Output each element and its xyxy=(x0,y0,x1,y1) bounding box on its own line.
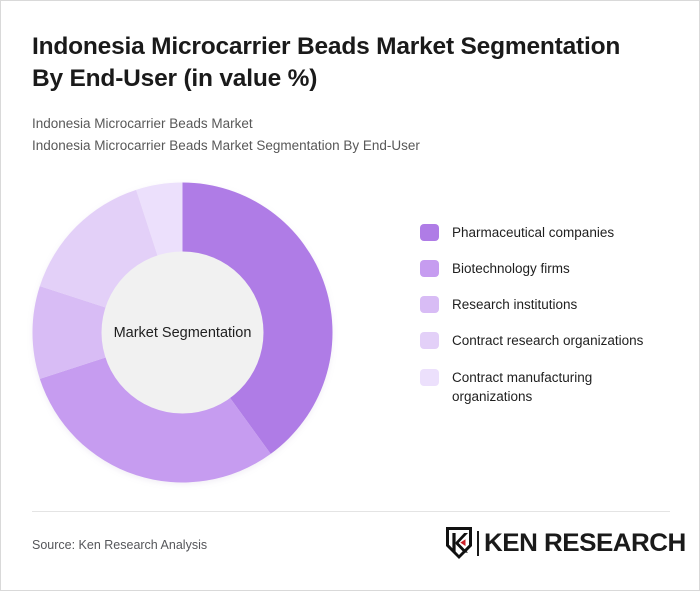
legend-item-label: Contract manufacturing organizations xyxy=(452,368,652,406)
legend-item[interactable]: Biotechnology firms xyxy=(420,259,675,278)
legend-color-swatch xyxy=(420,296,439,313)
legend-color-swatch xyxy=(420,332,439,349)
ken-research-shield-k-icon xyxy=(444,526,474,560)
legend-color-swatch xyxy=(420,224,439,241)
subtitle-block: Indonesia Microcarrier Beads Market Indo… xyxy=(32,113,652,157)
legend-color-swatch xyxy=(420,369,439,386)
legend-item[interactable]: Research institutions xyxy=(420,295,675,314)
legend-color-swatch xyxy=(420,260,439,277)
subtitle-segmentation: Indonesia Microcarrier Beads Market Segm… xyxy=(32,135,652,157)
legend-item-label: Pharmaceutical companies xyxy=(452,223,614,242)
subtitle-market: Indonesia Microcarrier Beads Market xyxy=(32,113,652,135)
donut-chart: Market Segmentation xyxy=(32,182,333,483)
source-note: Source: Ken Research Analysis xyxy=(32,538,207,552)
footer-divider xyxy=(32,511,670,512)
legend-item[interactable]: Contract research organizations xyxy=(420,331,675,350)
logo-wordmark: KEN RESEARCH xyxy=(484,529,686,558)
chart-legend: Pharmaceutical companiesBiotechnology fi… xyxy=(420,223,675,423)
donut-svg xyxy=(32,182,333,483)
chart-card: Indonesia Microcarrier Beads Market Segm… xyxy=(0,0,700,591)
page-title: Indonesia Microcarrier Beads Market Segm… xyxy=(32,31,647,96)
legend-item-label: Biotechnology firms xyxy=(452,259,570,278)
logo-separator-bar xyxy=(477,531,479,556)
ken-research-logo: KEN RESEARCH xyxy=(444,526,678,560)
legend-item-label: Contract research organizations xyxy=(452,331,643,350)
legend-item-label: Research institutions xyxy=(452,295,577,314)
legend-item[interactable]: Contract manufacturing organizations xyxy=(420,368,675,406)
donut-hole xyxy=(102,252,264,414)
legend-item[interactable]: Pharmaceutical companies xyxy=(420,223,675,242)
